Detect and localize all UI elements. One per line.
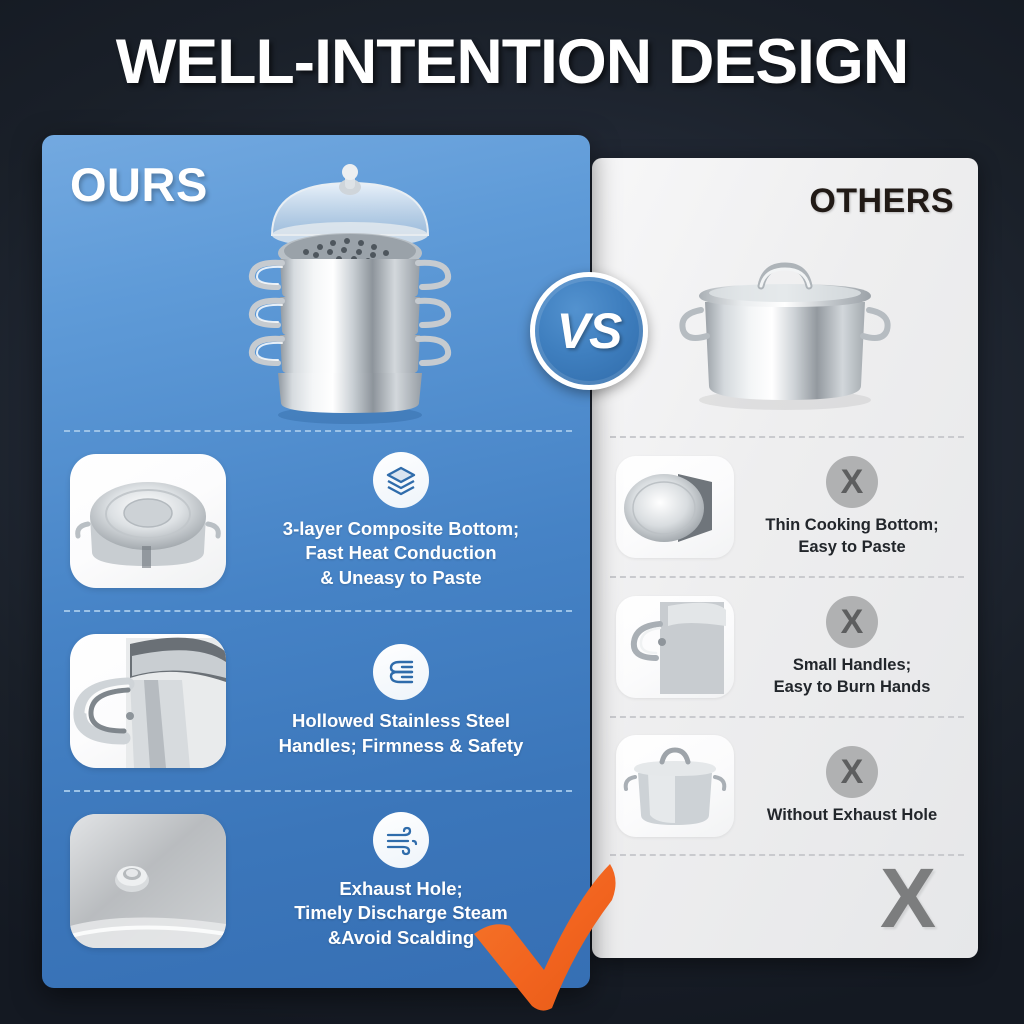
others-label: OTHERS — [809, 182, 954, 221]
hollow-handle-photo — [70, 634, 226, 768]
ours-verdict-check-mark — [470, 858, 650, 1018]
ours-feature-row: Hollowed Stainless Steel Handles; Firmne… — [64, 610, 572, 790]
thin-bottom-disc-photo — [616, 456, 734, 558]
exhaust-hole-photo — [70, 814, 226, 948]
no-exhaust-hole-pot-photo — [616, 735, 734, 837]
page-title: WELL-INTENTION DESIGN — [0, 26, 1024, 98]
others-feature-list: X Thin Cooking Bottom; Easy to Paste X — [610, 436, 964, 856]
ours-feature-text: 3-layer Composite Bottom; Fast Heat Cond… — [226, 452, 572, 591]
x-mark-icon: X — [826, 746, 878, 798]
vs-badge: VS — [530, 272, 648, 390]
ours-feature-row: 3-layer Composite Bottom; Fast Heat Cond… — [64, 430, 572, 610]
hollow-handle-icon — [373, 644, 429, 700]
others-verdict-x-mark: X — [880, 856, 936, 940]
others-feature-row: X Thin Cooking Bottom; Easy to Paste — [610, 436, 964, 576]
others-feature-text: X Small Handles; Easy to Burn Hands — [734, 596, 964, 699]
others-feature-text: X Thin Cooking Bottom; Easy to Paste — [734, 456, 964, 559]
layers-icon — [373, 452, 429, 508]
others-feature-row: X Small Handles; Easy to Burn Hands — [610, 576, 964, 716]
small-handle-photo — [616, 596, 734, 698]
others-hero-image — [665, 244, 905, 414]
infographic-canvas: WELL-INTENTION DESIGN OTHERS — [0, 0, 1024, 1024]
vs-label: VS — [557, 302, 622, 360]
x-mark-icon: X — [826, 596, 878, 648]
steam-wind-icon — [373, 812, 429, 868]
others-panel: OTHERS — [592, 158, 978, 958]
ours-hero-image — [220, 163, 480, 428]
ours-label: OURS — [70, 157, 208, 212]
composite-bottom-photo — [70, 454, 226, 588]
others-feature-text: X Without Exhaust Hole — [734, 746, 964, 827]
others-feature-row: X Without Exhaust Hole — [610, 716, 964, 856]
x-mark-icon: X — [826, 456, 878, 508]
ours-feature-text: Hollowed Stainless Steel Handles; Firmne… — [226, 644, 572, 758]
